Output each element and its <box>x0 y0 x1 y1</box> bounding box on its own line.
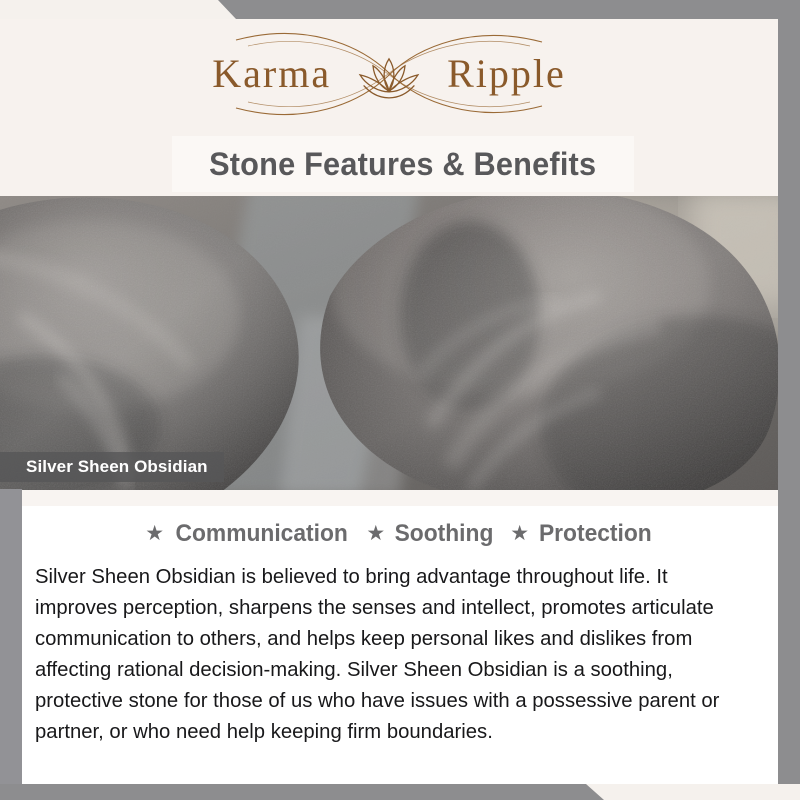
photo-caption-text: Silver Sheen Obsidian <box>26 457 208 477</box>
star-icon: ★ <box>366 523 385 544</box>
frame-left-band <box>0 489 22 800</box>
panel-top-fade <box>22 490 778 506</box>
stone-photo-image <box>0 196 778 490</box>
benefit-item: ★ Soothing <box>366 520 496 548</box>
photo-caption: Silver Sheen Obsidian <box>0 452 224 482</box>
poster-root: Karma Ripple Stone Features & Benefits <box>0 0 800 800</box>
benefit-label: Communication <box>176 520 348 548</box>
frame-right-band <box>778 0 800 800</box>
page-title: Stone Features & Benefits <box>209 146 596 183</box>
brand-name-left: Karma <box>212 54 331 94</box>
star-icon: ★ <box>510 523 529 544</box>
title-banner: Stone Features & Benefits <box>172 136 634 192</box>
frame-top-gray-wedge <box>210 0 800 19</box>
stone-photo: Silver Sheen Obsidian <box>0 196 778 490</box>
stone-description: Silver Sheen Obsidian is believed to bri… <box>35 561 754 747</box>
benefit-label: Soothing <box>395 520 494 548</box>
benefit-item: ★ Protection <box>510 520 655 548</box>
brand-name-right: Ripple <box>447 54 566 94</box>
frame-bottom-gray-wedge <box>0 784 608 800</box>
lotus-icon <box>352 53 426 99</box>
benefit-item: ★ Communication <box>145 520 352 548</box>
benefit-label: Protection <box>539 520 652 548</box>
brand-logo: Karma Ripple <box>0 18 778 130</box>
benefits-row: ★ Communication ★ Soothing ★ Protection <box>22 519 778 549</box>
star-icon: ★ <box>145 523 164 544</box>
content-panel: ★ Communication ★ Soothing ★ Protection … <box>22 490 778 784</box>
